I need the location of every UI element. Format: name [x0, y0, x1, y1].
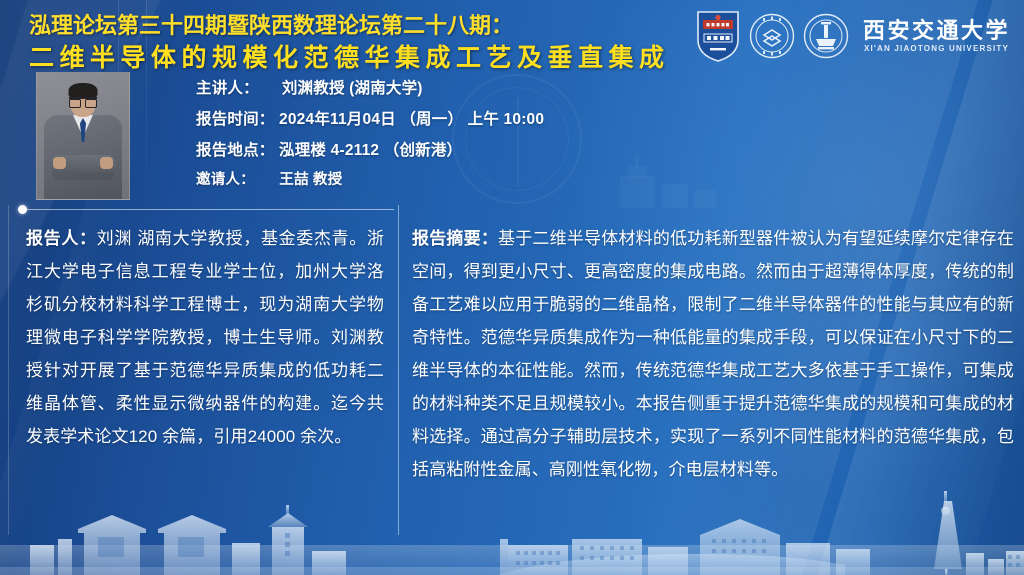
glasses-icon [69, 97, 97, 105]
xian-skyline-silhouette [0, 483, 1024, 575]
abstract-separator: ： [481, 229, 498, 248]
xjtu-seal-logo-2 [803, 13, 849, 59]
xjtu-shield-logo [695, 9, 741, 63]
vertical-divider [398, 205, 399, 535]
location-label: 报告地点： [196, 138, 275, 160]
speaker-portrait [36, 72, 130, 200]
location-row: 报告地点： 泓理楼 4-2112 （创新港） [196, 138, 462, 160]
speaker-label: 主讲人： [196, 76, 259, 98]
abstract-label: 报告摘要 [412, 229, 481, 248]
portrait-hand [100, 157, 113, 169]
speaker-bio-block: 报告人：刘渊 湖南大学教授，基金委杰青。浙江大学电子信息工程专业学士位，加州大学… [26, 222, 384, 453]
time-label: 报告时间： [196, 107, 275, 129]
location-value: 泓理楼 4-2112 （创新港） [279, 138, 462, 160]
speaker-value: 刘渊教授 (湖南大学) [282, 76, 423, 98]
abstract-text: 基于二维半导体材料的低功耗新型器件被认为有望延续摩尔定律存在空间，得到更小尺寸、… [412, 229, 1014, 479]
xjtu-wordmark: 西安交通大学 XI'AN JIAOTONG UNIVERSITY [863, 20, 1010, 53]
logo-group: 西安交通大学 XI'AN JIAOTONG UNIVERSITY [695, 9, 1010, 63]
xjtu-wordmark-cn: 西安交通大学 [863, 20, 1010, 42]
poster-header: 泓理论坛第三十四期暨陕西数理论坛第二十八期： 二维半导体的规模化范德华集成工艺及… [0, 0, 1024, 200]
poster-subtitle-line: 泓理论坛第三十四期暨陕西数理论坛第二十八期： [29, 8, 513, 40]
page-title: 二维半导体的规模化范德华集成工艺及垂直集成 [29, 38, 670, 74]
left-panel-border [8, 205, 9, 535]
xjtu-wordmark-en: XI'AN JIAOTONG UNIVERSITY [863, 45, 1010, 53]
host-value: 王喆 教授 [279, 168, 342, 189]
time-row: 报告时间： 2024年11月04日 （周一） 上午 10:00 [196, 107, 544, 129]
host-row: 邀请人： 王喆 教授 [196, 168, 342, 189]
speaker-row: 主讲人： 刘渊教授 (湖南大学) [196, 76, 423, 98]
time-value: 2024年11月04日 （周一） 上午 10:00 [279, 107, 544, 129]
xjtu-seal-logo-1 [749, 13, 795, 59]
abstract-block: 报告摘要：基于二维半导体材料的低功耗新型器件被认为有望延续摩尔定律存在空间，得到… [412, 222, 1014, 486]
divider-dot-marker [18, 205, 27, 214]
speaker-bio-label: 报告人 [26, 229, 79, 248]
speaker-bio-text: 刘渊 湖南大学教授，基金委杰青。浙江大学电子信息工程专业学士位，加州大学洛杉矶分… [26, 229, 384, 446]
portrait-hand [53, 157, 66, 169]
speaker-bio-separator: ： [79, 229, 97, 248]
seminar-poster: 泓理论坛第三十四期暨陕西数理论坛第二十八期： 二维半导体的规模化范德华集成工艺及… [0, 0, 1024, 575]
host-label: 邀请人： [196, 168, 255, 189]
horizontal-divider [22, 209, 394, 210]
